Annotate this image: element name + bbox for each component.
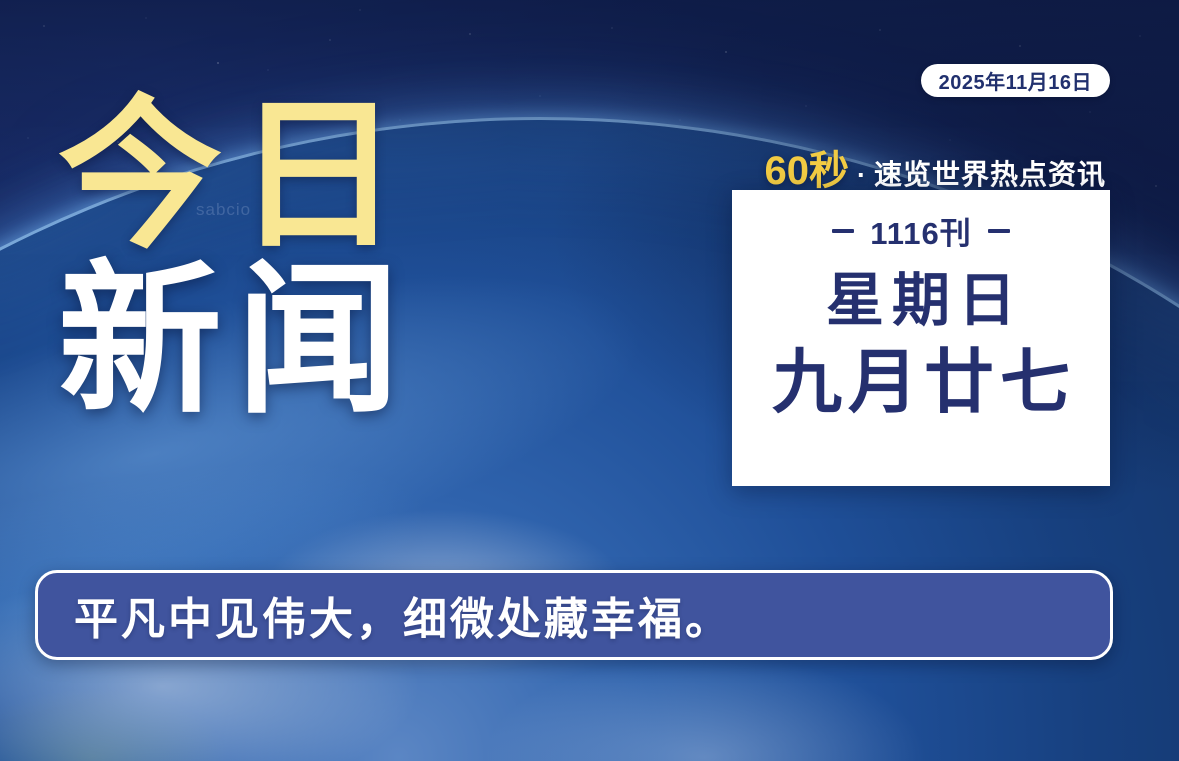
poster-content: 今日 新闻 2025年11月16日 60秒 · 速览世界热点资讯 1116刊 星… <box>0 0 1179 761</box>
headline-line-news: 新闻 <box>58 261 414 422</box>
quote-text: 平凡中见伟大，细微处藏幸福。 <box>74 583 732 647</box>
issue-number: 1116刊 <box>870 208 972 253</box>
news-poster: sabcio 今日 新闻 2025年11月16日 60秒 · 速览世界热点资讯 … <box>0 0 1179 761</box>
issue-number-row: 1116刊 <box>832 208 1010 253</box>
dash-left-icon <box>832 229 854 233</box>
weekday-label: 星期日 <box>818 271 1024 332</box>
date-badge: 2025年11月16日 <box>921 64 1110 97</box>
tagline: 60秒 · 速览世界热点资讯 <box>764 138 1106 196</box>
lunar-date-label: 九月廿七 <box>766 346 1076 420</box>
tagline-seconds: 60秒 <box>764 138 849 196</box>
issue-card: 1116刊 星期日 九月廿七 <box>732 190 1110 486</box>
tagline-separator: · <box>855 160 868 191</box>
page-title: 今日 新闻 <box>58 96 414 421</box>
dash-right-icon <box>988 229 1010 233</box>
tagline-description: 速览世界热点资讯 <box>874 153 1106 193</box>
headline-line-today: 今日 <box>58 96 414 257</box>
quote-bar: 平凡中见伟大，细微处藏幸福。 <box>35 570 1113 660</box>
